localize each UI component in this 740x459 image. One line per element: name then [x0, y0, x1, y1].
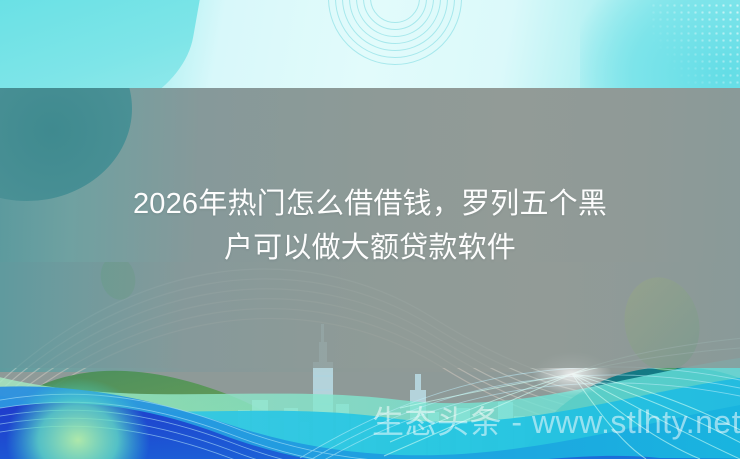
concentric-arcs-icon: [330, 0, 460, 50]
cyan-wedge-left-shape: [0, 0, 203, 88]
article-cover-banner: 2026年热门怎么借借钱，罗列五个黑 户可以做大额贷款软件 生态头条 - www…: [0, 0, 740, 459]
page-title: 2026年热门怎么借借钱，罗列五个黑 户可以做大额贷款软件: [0, 182, 740, 270]
halftone-dot-grid-icon: [650, 2, 740, 88]
bottom-illustration: [0, 262, 740, 459]
headline-line-2: 户可以做大额贷款软件: [0, 226, 740, 270]
headline-line-1: 2026年热门怎么借借钱，罗列五个黑: [0, 182, 740, 226]
illustration-svg: [0, 262, 740, 459]
top-cyan-band: [0, 0, 740, 88]
ray-core-glow: [532, 352, 612, 396]
